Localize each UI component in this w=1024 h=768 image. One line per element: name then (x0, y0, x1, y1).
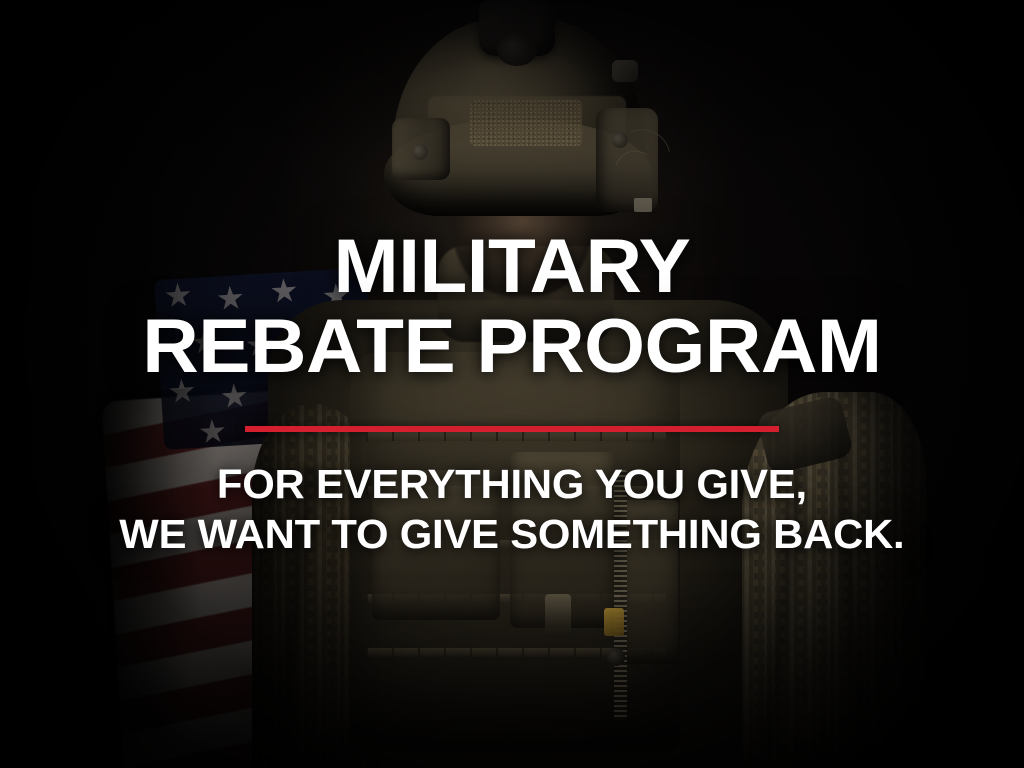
military-rebate-poster: MILITARY REBATE PROGRAM FOR EVERYTHING Y… (0, 0, 1024, 768)
background-photo-soldier (0, 0, 1024, 768)
vignette-overlay (0, 0, 1024, 768)
